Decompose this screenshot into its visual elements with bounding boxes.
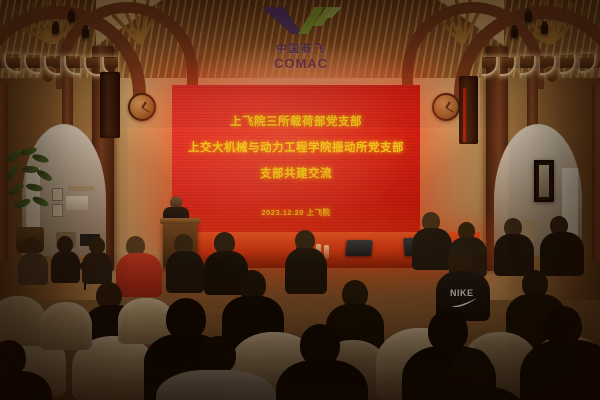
screen-line-3: 支部共建交流 xyxy=(172,165,420,181)
screen-line-2: 上交大机械与动力工程学院振动所党支部 xyxy=(172,139,420,155)
track-spotlight-6 xyxy=(511,28,518,38)
wall-clock-right xyxy=(432,93,460,121)
track-spotlight-2 xyxy=(68,12,75,22)
track-spotlight-3 xyxy=(82,28,89,38)
comac-logo-english: COMAC xyxy=(255,56,347,71)
screen-date-line: 2023.12.20 上飞院 xyxy=(172,207,420,218)
timber-post-outer-right xyxy=(592,82,600,262)
screen-line-1: 上飞院三所载荷部党支部 xyxy=(172,113,420,129)
nike-brand-text: NIKE xyxy=(450,288,474,298)
comac-logo-mark xyxy=(258,4,344,38)
track-spotlight-4 xyxy=(541,24,548,34)
wall-clock-left xyxy=(128,93,156,121)
led-display: 上飞院三所载荷部党支部 上交大机械与动力工程学院振动所党支部 支部共建交流 20… xyxy=(172,85,420,235)
comac-logo: 中国商飞 COMAC xyxy=(255,4,347,68)
track-spotlight-5 xyxy=(525,12,532,22)
loudspeaker-left xyxy=(100,72,120,138)
loudspeaker-right xyxy=(459,76,478,144)
conference-hall-photo: 中国商飞 COMAC xyxy=(0,0,600,400)
nike-swoosh-icon xyxy=(451,298,477,307)
seated-audience: NIKE xyxy=(0,236,600,400)
comac-logo-chinese: 中国商飞 xyxy=(255,41,347,56)
hall-interior: 中国商飞 COMAC xyxy=(0,0,600,400)
cream-armchair xyxy=(40,302,92,350)
framed-picture xyxy=(534,160,554,202)
track-spotlight-1 xyxy=(52,24,59,34)
speaker-led-strip xyxy=(463,88,466,142)
